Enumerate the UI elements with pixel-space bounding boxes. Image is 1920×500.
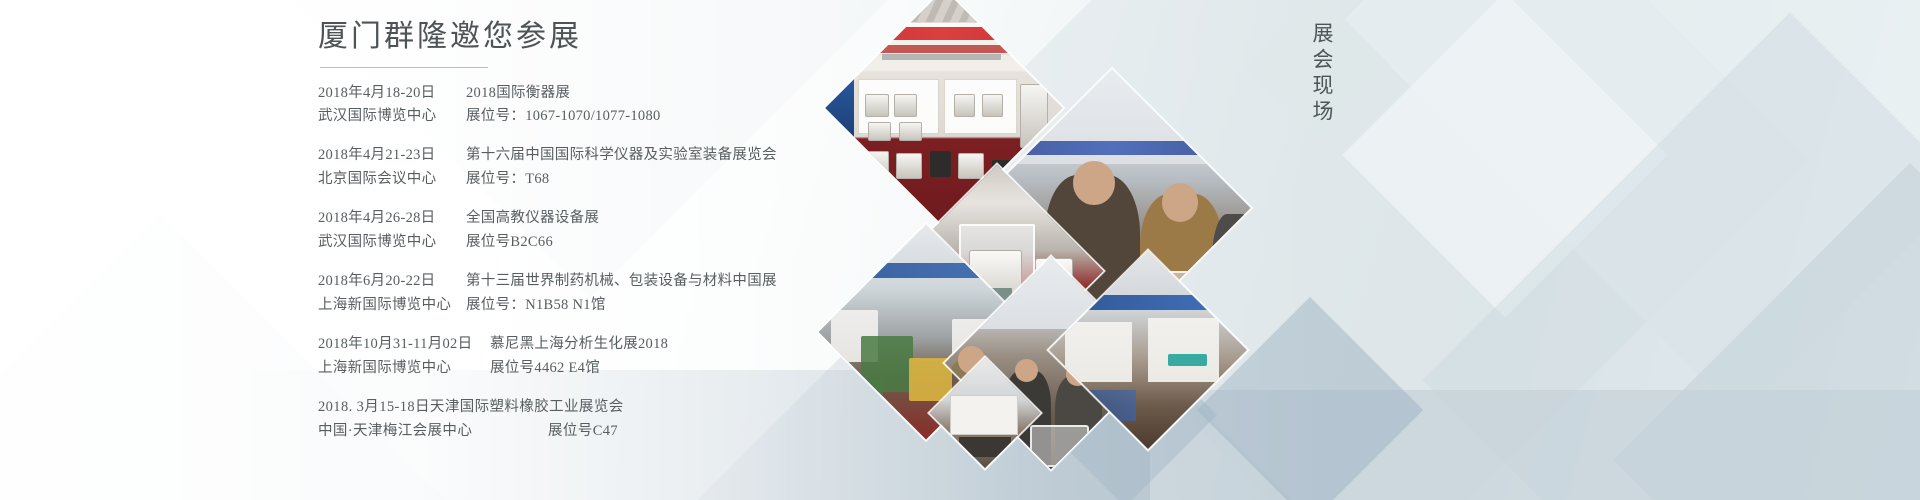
event-booth: 展位号：1067-1070/1077-1080 xyxy=(466,105,661,128)
event-booth: 展位号4462 E4馆 xyxy=(490,357,600,380)
title-divider xyxy=(320,67,488,68)
event-row-top: 2018年10月31-11月02日 慕尼黑上海分析生化展2018 xyxy=(318,333,1078,356)
vertical-label-text: 展会现场 xyxy=(1303,22,1335,126)
event-booth: 展位号C47 xyxy=(548,420,618,443)
page-title: 厦门群隆邀您参展 xyxy=(318,18,1078,56)
event-date: 2018年4月18-20日 xyxy=(318,82,466,105)
promo-banner: 展会现场 厦门群隆邀您参展 2018年4月18-20日 2018国际衡器展 武汉… xyxy=(0,0,1920,500)
event-venue: 上海新国际博览中心 xyxy=(318,294,466,317)
event-name: 第十六届中国国际科学仪器及实验室装备展览会 xyxy=(466,144,777,167)
event-row-bottom: 上海新国际博览中心 展位号：N1B58 N1馆 xyxy=(318,294,1078,317)
event-date: 2018年4月26-28日 xyxy=(318,207,466,230)
event-row-top: 2018. 3月15-18日天津国际塑料橡胶工业展览会 xyxy=(318,396,1078,419)
event-list-panel: 厦门群隆邀您参展 2018年4月18-20日 2018国际衡器展 武汉国际博览中… xyxy=(318,18,1078,459)
event-row-top: 2018年4月18-20日 2018国际衡器展 xyxy=(318,82,1078,105)
event-row-bottom: 上海新国际博览中心 展位号4462 E4馆 xyxy=(318,357,1078,380)
event-item: 2018年4月18-20日 2018国际衡器展 武汉国际博览中心 展位号：106… xyxy=(318,82,1078,129)
event-booth: 展位号：T68 xyxy=(466,168,549,191)
event-row-bottom: 武汉国际博览中心 展位号B2C66 xyxy=(318,231,1078,254)
event-name: 慕尼黑上海分析生化展2018 xyxy=(490,333,668,356)
bg-polygon-3 xyxy=(1344,0,1920,416)
event-date: 2018年4月21-23日 xyxy=(318,144,466,167)
bg-polygon-5 xyxy=(1422,12,1920,500)
event-venue: 中国·天津梅江会展中心 xyxy=(318,420,548,443)
event-item: 2018年6月20-22日 第十三届世界制药机械、包装设备与材料中国展 上海新国… xyxy=(318,270,1078,317)
bg-band-bottom-right xyxy=(1150,390,1920,500)
event-venue: 武汉国际博览中心 xyxy=(318,231,466,254)
event-venue: 北京国际会议中心 xyxy=(318,168,466,191)
event-booth: 展位号：N1B58 N1馆 xyxy=(466,294,606,317)
event-name: 第十三届世界制药机械、包装设备与材料中国展 xyxy=(466,270,777,293)
event-date: 2018年6月20-22日 xyxy=(318,270,466,293)
event-venue: 上海新国际博览中心 xyxy=(318,357,490,380)
event-row-top: 2018年4月26-28日 全国高教仪器设备展 xyxy=(318,207,1078,230)
event-booth: 展位号B2C66 xyxy=(466,231,553,254)
event-item: 2018. 3月15-18日天津国际塑料橡胶工业展览会 中国·天津梅江会展中心 … xyxy=(318,396,1078,443)
event-item: 2018年10月31-11月02日 慕尼黑上海分析生化展2018 上海新国际博览… xyxy=(318,333,1078,380)
event-row-top: 2018年4月21-23日 第十六届中国国际科学仪器及实验室装备展览会 xyxy=(318,144,1078,167)
event-item: 2018年4月26-28日 全国高教仪器设备展 武汉国际博览中心 展位号B2C6… xyxy=(318,207,1078,254)
event-date: 2018年10月31-11月02日 xyxy=(318,333,490,356)
bg-polygon-6 xyxy=(1613,163,1920,500)
event-row-top: 2018年6月20-22日 第十三届世界制药机械、包装设备与材料中国展 xyxy=(318,270,1078,293)
event-row-bottom: 中国·天津梅江会展中心 展位号C47 xyxy=(318,420,1078,443)
event-row-bottom: 武汉国际博览中心 展位号：1067-1070/1077-1080 xyxy=(318,105,1078,128)
event-item: 2018年4月21-23日 第十六届中国国际科学仪器及实验室装备展览会 北京国际… xyxy=(318,144,1078,191)
bg-polygon-4 xyxy=(1342,0,1667,318)
event-title-line: 2018. 3月15-18日天津国际塑料橡胶工业展览会 xyxy=(318,396,624,419)
event-row-bottom: 北京国际会议中心 展位号：T68 xyxy=(318,168,1078,191)
event-name: 2018国际衡器展 xyxy=(466,82,570,105)
event-venue: 武汉国际博览中心 xyxy=(318,105,466,128)
event-name: 全国高教仪器设备展 xyxy=(466,207,599,230)
